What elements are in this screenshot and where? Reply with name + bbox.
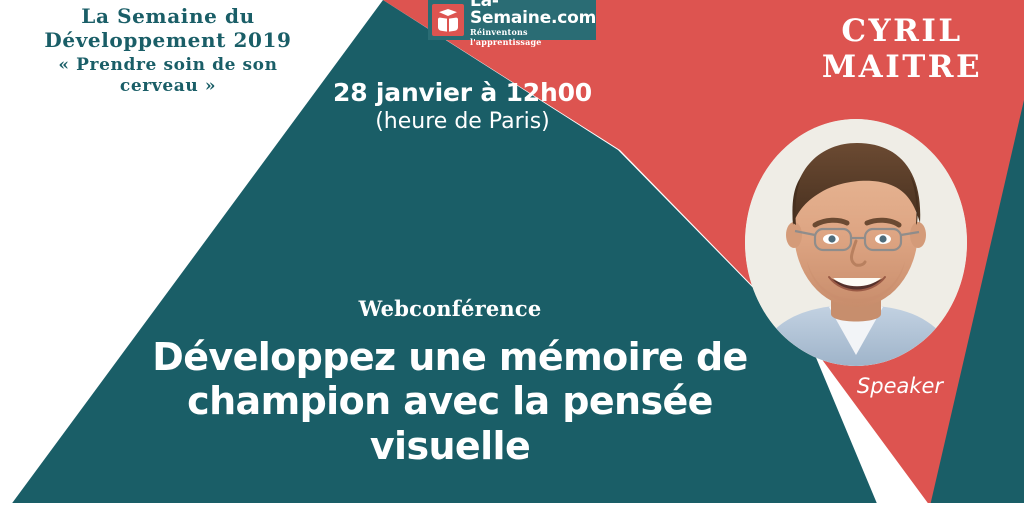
event-series-title: La Semaine du Développement 2019 « Prend… [18,4,318,96]
speaker-last-name: MAITRE [780,50,1024,86]
brand-tagline: Réinventons l'apprentissage [470,28,596,47]
event-title-line-3: « Prendre soin de son [18,55,318,76]
event-timezone: (heure de Paris) [330,109,595,134]
event-title-line-4: cerveau » [18,76,318,97]
conference-headline: Webconférence Développez une mémoire de … [140,296,760,468]
speaker-role-label: Speaker [800,374,1000,398]
webinar-banner: La Semaine du Développement 2019 « Prend… [0,0,1024,506]
graduation-book-icon [432,4,464,36]
event-date: 28 janvier à 12h00 [330,78,595,107]
event-title-line-1: La Semaine du [18,4,318,28]
brand-logo[interactable]: La-Semaine.com Réinventons l'apprentissa… [428,0,596,40]
event-title-line-2: Développement 2019 [18,28,318,52]
conference-title: Développez une mémoire de champion avec … [140,335,760,468]
speaker-avatar [745,119,967,366]
conference-kicker: Webconférence [140,296,760,321]
event-datetime: 28 janvier à 12h00 (heure de Paris) [330,78,595,134]
speaker-portrait-image [745,119,967,366]
brand-name: La-Semaine.com [470,0,596,28]
speaker-first-name: CYRIL [780,14,1024,50]
speaker-name: CYRIL MAITRE [780,14,1024,86]
